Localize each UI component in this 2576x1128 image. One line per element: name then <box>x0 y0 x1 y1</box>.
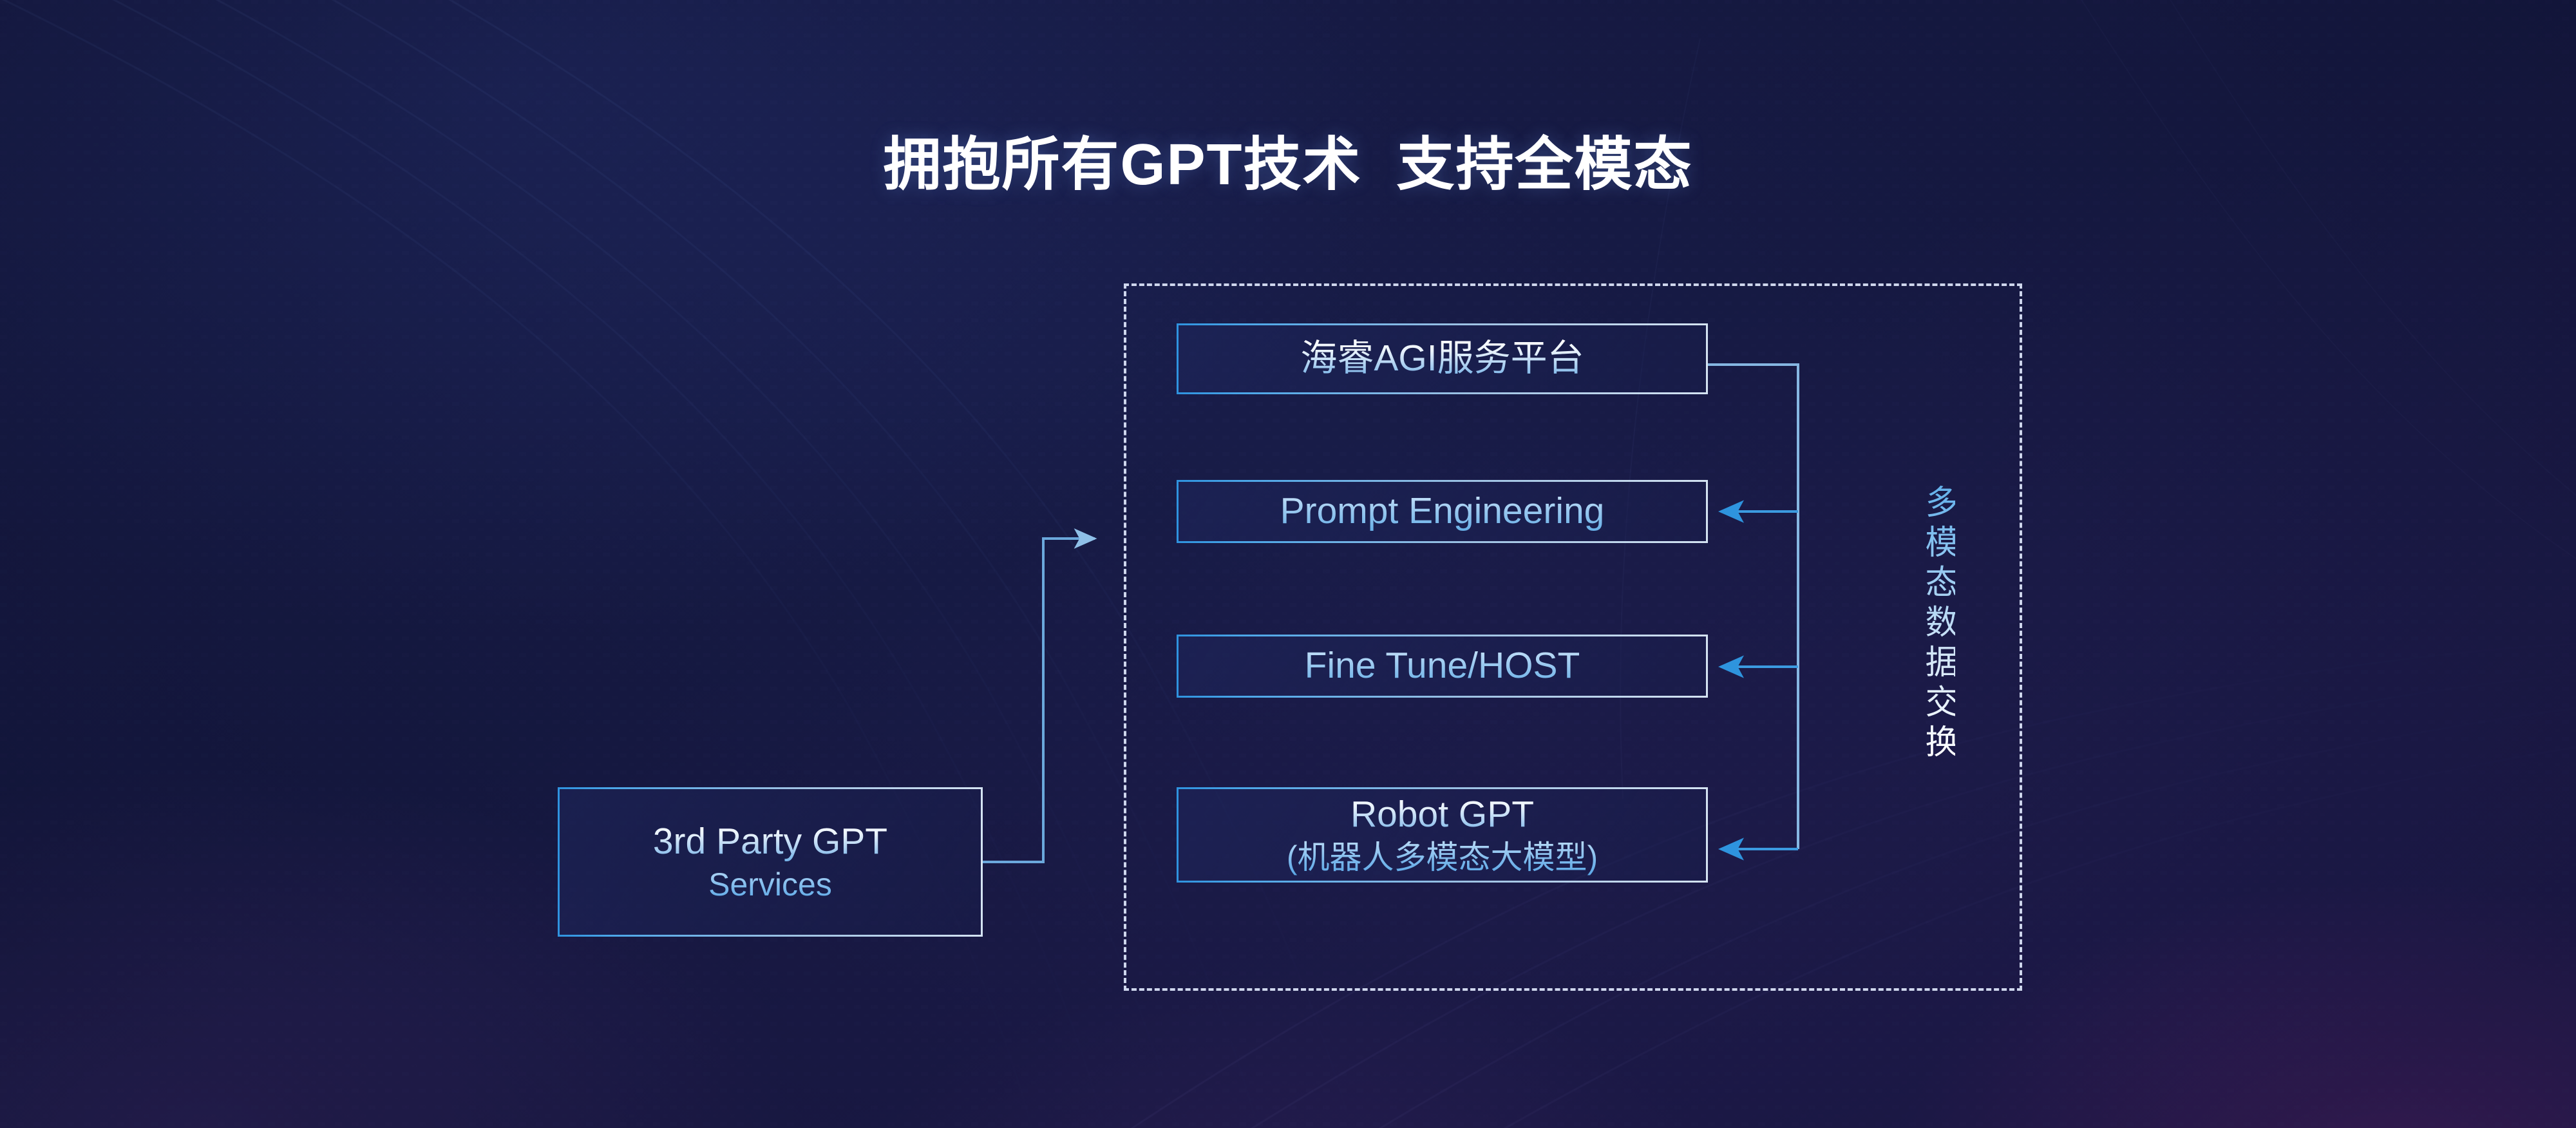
node-third-party-gpt-label: 3rd Party GPT <box>653 821 887 863</box>
node-prompt-engineering-label: Prompt Engineering <box>1280 491 1605 532</box>
node-agi-platform[interactable]: 海睿AGI服务平台 <box>1177 323 1708 394</box>
node-robot-gpt-sublabel: (机器人多模态大模型) <box>1287 839 1598 875</box>
side-label-multimodal-exchange: 多模态数据交换 <box>1904 484 1955 764</box>
node-agi-platform-label: 海睿AGI服务平台 <box>1300 338 1584 379</box>
page-title: 拥抱所有GPT技术 支持全模态 <box>0 117 2576 201</box>
node-prompt-engineering[interactable]: Prompt Engineering <box>1177 480 1708 543</box>
node-third-party-gpt[interactable]: 3rd Party GPT Services <box>558 787 983 937</box>
node-robot-gpt-label: Robot GPT <box>1350 794 1534 836</box>
node-third-party-gpt-sublabel: Services <box>708 866 832 903</box>
node-fine-tune-host-label: Fine Tune/HOST <box>1305 645 1580 687</box>
node-robot-gpt[interactable]: Robot GPT (机器人多模态大模型) <box>1177 787 1708 883</box>
slide-canvas: 拥抱所有GPT技术 支持全模态 海睿 <box>0 0 2576 1128</box>
node-fine-tune-host[interactable]: Fine Tune/HOST <box>1177 635 1708 698</box>
